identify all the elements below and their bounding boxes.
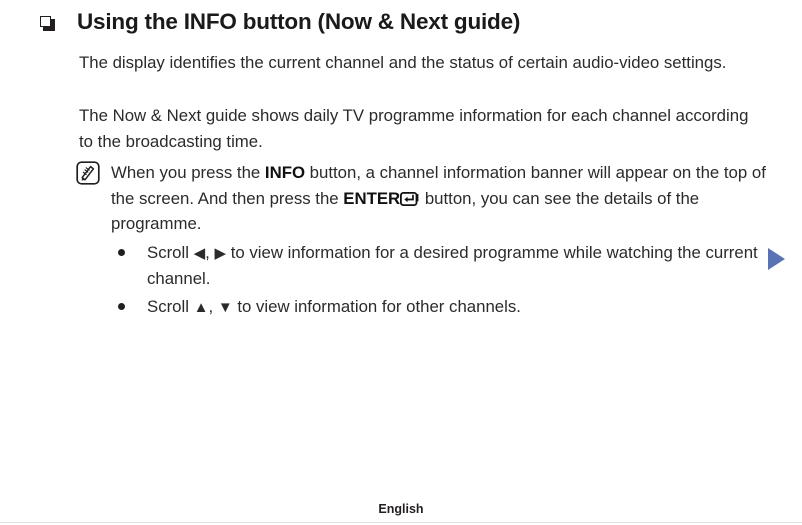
round-bullet-icon [118,303,125,310]
intro-paragraph-1: The display identifies the current chann… [79,50,751,76]
footer-language-label: English [0,502,802,516]
bullet-prefix: Scroll [147,297,194,316]
round-bullet-icon [118,249,125,256]
list-item-text: Scroll ◀, ▶ to view information for a de… [147,240,768,291]
list-item: Scroll ◀, ▶ to view information for a de… [118,240,768,291]
note-block: When you press the INFO button, a channe… [76,160,766,237]
arrow-up-icon: ▲ [194,299,209,316]
intro-paragraph-2: The Now & Next guide shows daily TV prog… [79,103,751,154]
note-text: When you press the INFO button, a channe… [111,160,766,237]
next-page-arrow-icon[interactable] [768,248,785,270]
bullet-suffix: to view information for a desired progra… [147,243,758,288]
note-text-part1: When you press the [111,163,265,182]
bullet-separator: , [205,243,214,262]
list-item-text: Scroll ▲, ▼ to view information for othe… [147,294,768,320]
arrow-right-icon: ▶ [215,245,227,262]
page-title: Using the INFO button (Now & Next guide) [77,8,520,36]
note-bold-info: INFO [265,163,305,182]
bullet-prefix: Scroll [147,243,194,262]
enter-key-icon [400,192,419,206]
scroll-instructions-list: Scroll ◀, ▶ to view information for a de… [118,240,768,323]
page-heading: Using the INFO button (Now & Next guide) [40,8,762,36]
list-item: Scroll ▲, ▼ to view information for othe… [118,294,768,320]
manual-page: Using the INFO button (Now & Next guide)… [0,0,802,525]
arrow-left-icon: ◀ [194,245,206,262]
bullet-suffix: to view information for other channels. [233,297,521,316]
note-pencil-icon [76,161,100,185]
note-bold-enter: ENTER [343,189,400,208]
bullet-separator: , [208,297,217,316]
arrow-down-icon: ▼ [218,299,233,316]
footer-divider [0,522,802,523]
square-bullet-icon [40,16,55,31]
